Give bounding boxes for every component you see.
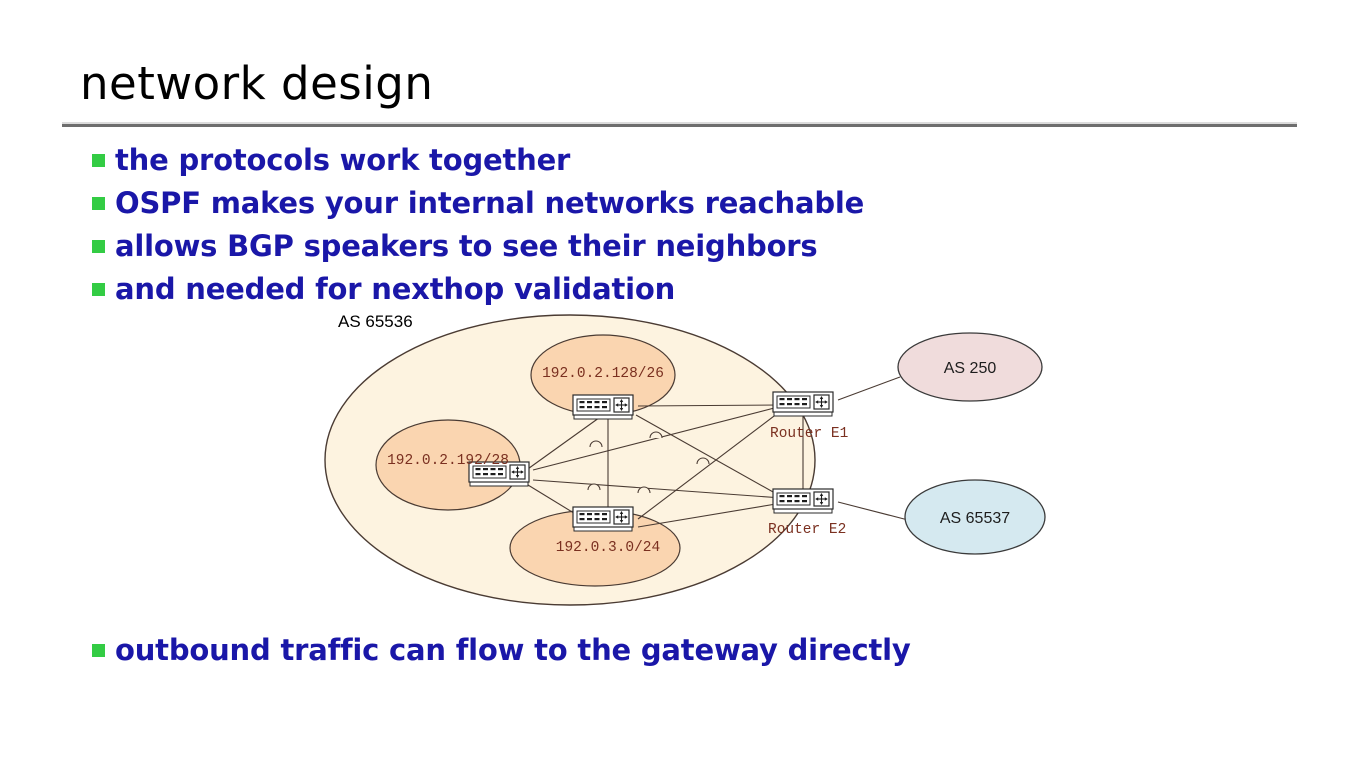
list-item: OSPF makes your internal networks reacha…: [92, 181, 1292, 224]
bullet-label: OSPF makes your internal networks reacha…: [115, 186, 864, 220]
list-item: and needed for nexthop validation: [92, 267, 1292, 310]
list-item: the protocols work together: [92, 138, 1292, 181]
external-as-label-250: AS 250: [944, 360, 997, 377]
network-label-2: 192.0.2.192/28: [387, 453, 509, 469]
bullet-label: and needed for nexthop validation: [115, 272, 675, 306]
bullet-label: allows BGP speakers to see their neighbo…: [115, 229, 817, 263]
list-item: allows BGP speakers to see their neighbo…: [92, 224, 1292, 267]
router-label-e1: Router E1: [770, 426, 848, 442]
router-icon: [573, 507, 633, 531]
list-item: outbound traffic can flow to the gateway…: [92, 628, 1292, 671]
title-divider: [62, 122, 1297, 127]
as-boundary-label: AS 65536: [338, 312, 413, 331]
bullet-list-bottom: outbound traffic can flow to the gateway…: [92, 628, 1292, 671]
bullet-square-icon: [92, 644, 105, 657]
slide: network design the protocols work togeth…: [0, 0, 1366, 768]
bullet-label: outbound traffic can flow to the gateway…: [115, 633, 911, 667]
router-label-e2: Router E2: [768, 522, 846, 538]
external-as-label-65537: AS 65537: [940, 510, 1010, 527]
network-diagram: AS 65536 192.0.2.128/26 192.0.2.192/28 1…: [320, 305, 1080, 625]
bullet-label: the protocols work together: [115, 143, 570, 177]
network-label-3: 192.0.3.0/24: [556, 540, 660, 556]
network-label-1: 192.0.2.128/26: [542, 366, 664, 382]
router-icon: [573, 395, 633, 419]
router-icon-e2: [773, 489, 833, 513]
bullet-square-icon: [92, 197, 105, 210]
bullet-square-icon: [92, 240, 105, 253]
bullet-square-icon: [92, 154, 105, 167]
router-icon-e1: [773, 392, 833, 416]
page-title: network design: [80, 60, 433, 107]
bullet-list-top: the protocols work together OSPF makes y…: [92, 138, 1292, 310]
bullet-square-icon: [92, 283, 105, 296]
